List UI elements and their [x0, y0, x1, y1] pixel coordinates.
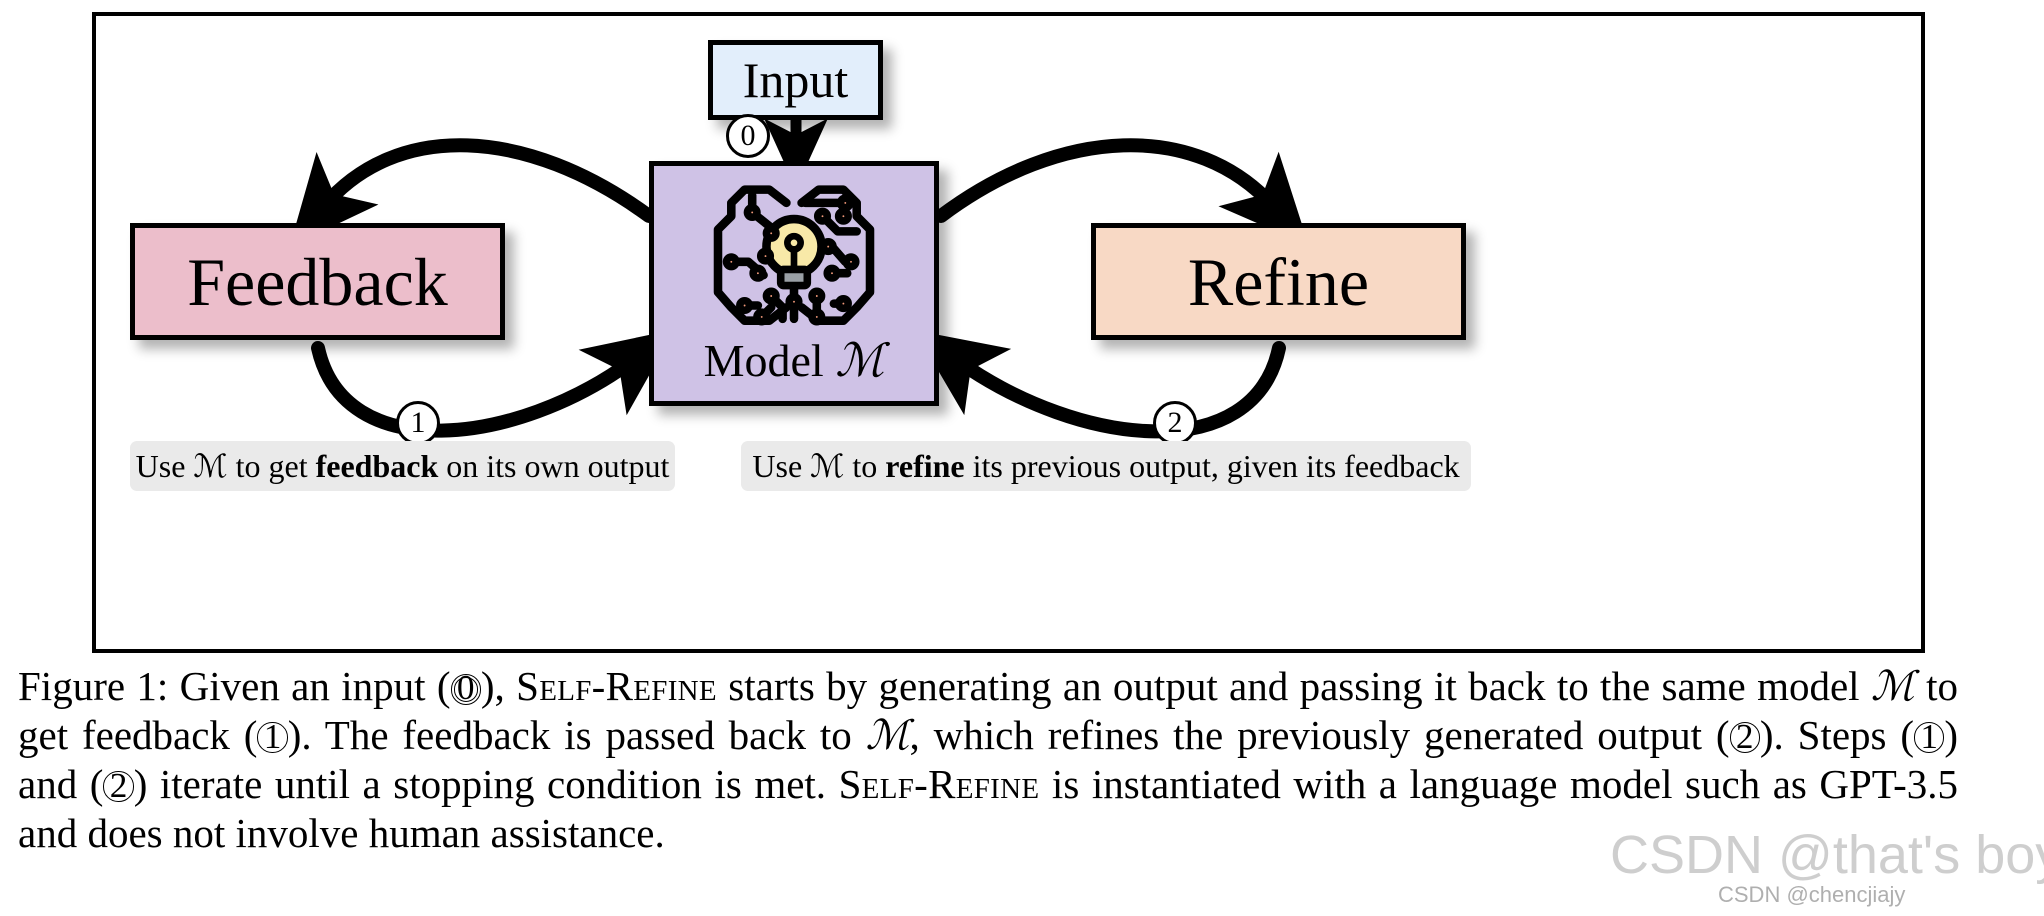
feedback-caption-post: on its own output — [438, 448, 669, 484]
model-label-text: Model — [704, 335, 836, 386]
feedback-node-label: Feedback — [187, 248, 448, 316]
step-marker-2: 2 — [1153, 401, 1197, 445]
caption-circled-1: 1 — [257, 722, 287, 752]
watermark-secondary: CSDN @chencjiajy — [1718, 882, 1905, 908]
refine-caption-text: Use ℳ to refine its previous output, giv… — [752, 447, 1459, 485]
caption-part-9: ) iterate until a stopping condition is … — [134, 761, 839, 807]
step-marker-1: 1 — [396, 401, 440, 445]
arrow-refine-to-model — [958, 348, 1279, 431]
refine-caption-bold: refine — [885, 448, 964, 484]
caption-part-3: starts by generating an output and passi… — [717, 663, 1871, 709]
arrow-feedback-to-model — [318, 348, 632, 431]
caption-smallcaps-2: Self-Refine — [839, 761, 1040, 807]
feedback-caption-chip: Use ℳ to get feedback on its own output — [130, 441, 675, 491]
feedback-caption-bold: feedback — [316, 448, 439, 484]
refine-node-label: Refine — [1188, 248, 1369, 316]
arrow-model-to-feedback — [324, 145, 649, 216]
refine-caption-pre: Use ℳ to — [752, 448, 885, 484]
feedback-node[interactable]: Feedback — [130, 223, 505, 340]
step-marker-1-label: 1 — [411, 406, 426, 440]
caption-part-6: , which refines the previously generated… — [910, 712, 1730, 758]
step-marker-0: 0 — [726, 114, 770, 158]
model-node[interactable]: Model ℳ — [649, 161, 939, 406]
caption-circled-0: 0 — [451, 674, 481, 704]
refine-caption-chip: Use ℳ to refine its previous output, giv… — [741, 441, 1471, 491]
input-node-label: Input — [743, 55, 849, 105]
watermark-primary: CSDN @that's boy — [1610, 824, 2044, 886]
model-node-label: Model ℳ — [704, 338, 885, 384]
caption-math-1: ℳ — [1871, 663, 1915, 709]
arrow-model-to-refine — [941, 145, 1273, 216]
caption-circled-4: 2 — [103, 771, 133, 801]
step-marker-0-label: 0 — [741, 119, 756, 153]
feedback-caption-text: Use ℳ to get feedback on its own output — [136, 447, 670, 485]
brain-circuit-icon — [699, 174, 889, 342]
figure-frame: Input Feedback Refine — [92, 12, 1925, 653]
refine-caption-post: its previous output, given its feedback — [965, 448, 1460, 484]
step-marker-2-label: 2 — [1168, 406, 1183, 440]
input-node[interactable]: Input — [708, 40, 883, 120]
caption-math-2: ℳ — [866, 712, 910, 758]
caption-smallcaps-1: Self-Refine — [516, 663, 717, 709]
caption-part-1: Figure 1: Given an input ( — [18, 663, 451, 709]
caption-part-2: ), — [481, 663, 516, 709]
caption-part-7: ). Steps ( — [1760, 712, 1914, 758]
feedback-caption-pre: Use ℳ to get — [136, 448, 316, 484]
caption-circled-3: 1 — [1914, 722, 1944, 752]
caption-part-5: ). The feedback is passed back to — [288, 712, 866, 758]
refine-node[interactable]: Refine — [1091, 223, 1466, 340]
caption-circled-2: 2 — [1730, 722, 1760, 752]
model-label-symbol: ℳ — [835, 335, 884, 386]
